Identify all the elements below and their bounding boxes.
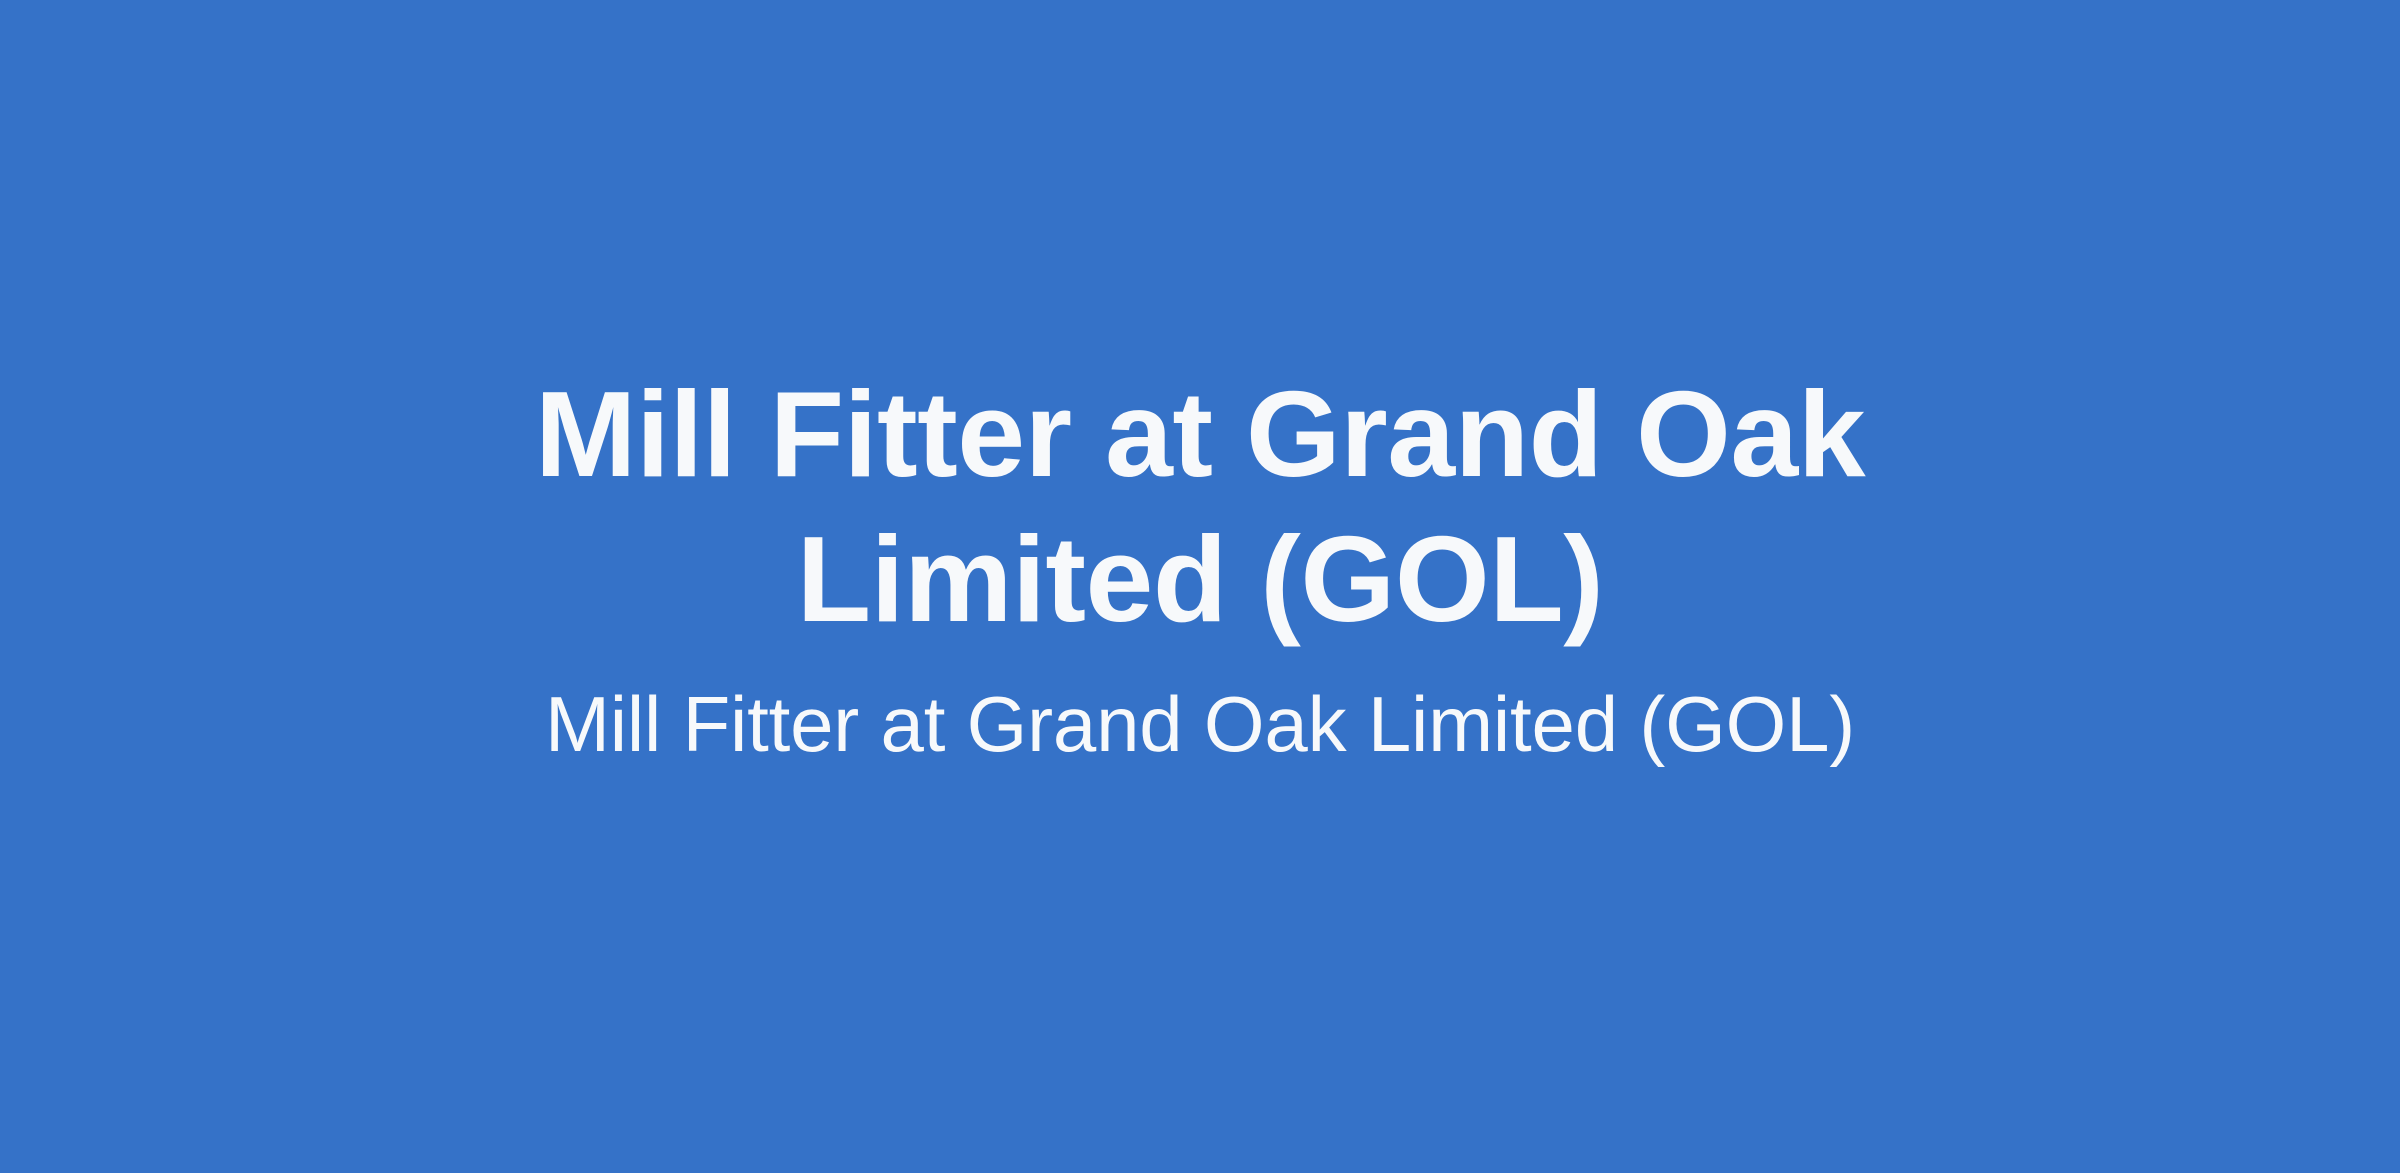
card-text-block: Mill Fitter at Grand Oak Limited (GOL) M… <box>320 362 2080 770</box>
page-subtitle: Mill Fitter at Grand Oak Limited (GOL) <box>545 652 1855 770</box>
share-card: Mill Fitter at Grand Oak Limited (GOL) M… <box>0 0 2400 1173</box>
page-title: Mill Fitter at Grand Oak Limited (GOL) <box>320 362 2080 652</box>
